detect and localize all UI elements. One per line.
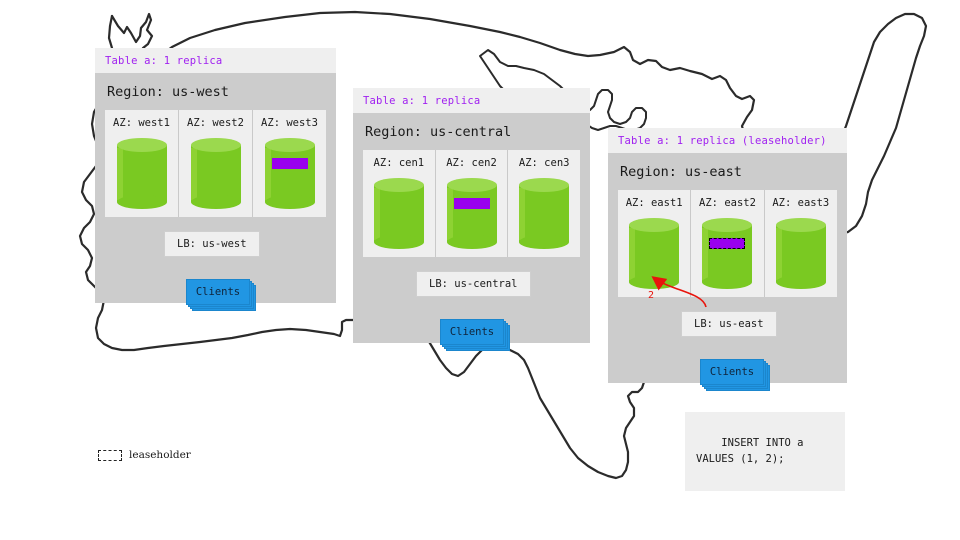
cylinder-body: [265, 145, 315, 202]
sql-text: INSERT INTO a VALUES (1, 2);: [696, 437, 803, 465]
az-label: AZ: east1: [622, 197, 686, 209]
clients-stack-us-east[interactable]: Clients: [700, 359, 764, 385]
cylinder-bottom: [702, 275, 752, 289]
cylinder-body: [117, 145, 167, 202]
cylinder-highlight: [117, 148, 123, 200]
load-balancer-us-west[interactable]: LB: us-west: [164, 231, 260, 257]
replica-cylinder-cen1[interactable]: [374, 178, 424, 248]
sql-statement-box: INSERT INTO a VALUES (1, 2);: [685, 412, 845, 491]
replica-cylinder-west2[interactable]: [191, 138, 241, 208]
az-label: AZ: cen1: [367, 157, 431, 169]
az-label: AZ: cen2: [440, 157, 504, 169]
region-header-us-east: Table a: 1 replica (leaseholder): [608, 128, 847, 153]
az-label: AZ: west1: [109, 117, 174, 129]
cylinder-bottom: [447, 235, 497, 249]
clients-stack-us-west[interactable]: Clients: [186, 279, 250, 305]
clients-stack-us-central[interactable]: Clients: [440, 319, 504, 345]
az-cell-cen2[interactable]: AZ: cen2: [435, 150, 508, 257]
cylinder-highlight: [447, 188, 453, 240]
cylinder-top: [374, 178, 424, 192]
cylinder-top: [629, 218, 679, 232]
cylinder-bottom: [374, 235, 424, 249]
az-label: AZ: east2: [695, 197, 759, 209]
az-cell-east3[interactable]: AZ: east3: [764, 190, 837, 297]
region-body-us-west: Region: us-west AZ: west1 AZ: west2: [95, 73, 336, 303]
arrow-step-number: 2: [648, 290, 654, 301]
region-panel-us-east: Table a: 1 replica (leaseholder) Region:…: [608, 128, 847, 383]
az-label: AZ: west2: [183, 117, 248, 129]
region-header-us-central: Table a: 1 replica: [353, 88, 590, 113]
replica-cylinder-east3[interactable]: [776, 218, 826, 288]
clients-label: Clients: [196, 286, 240, 298]
cylinder-bottom: [776, 275, 826, 289]
cylinder-highlight: [519, 188, 525, 240]
cylinder-top: [191, 138, 241, 152]
cylinder-body: [374, 185, 424, 242]
replica-cylinder-west1[interactable]: [117, 138, 167, 208]
cylinder-highlight: [374, 188, 380, 240]
cylinder-highlight: [702, 228, 708, 280]
replica-cylinder-east2[interactable]: [702, 218, 752, 288]
cylinder-body: [519, 185, 569, 242]
az-row-us-east: AZ: east1 AZ: east2: [618, 190, 837, 297]
cylinder-top: [776, 218, 826, 232]
az-cell-east2[interactable]: AZ: east2: [690, 190, 763, 297]
replica-cylinder-east1[interactable]: [629, 218, 679, 288]
lb-label: LB: us-east: [694, 318, 764, 330]
replica-note: Table a: 1 replica (leaseholder): [618, 135, 837, 147]
az-row-us-central: AZ: cen1 AZ: cen2: [363, 150, 580, 257]
cylinder-body: [776, 225, 826, 282]
replica-data-bar: [454, 198, 490, 209]
region-body-us-east: Region: us-east AZ: east1 AZ: east2: [608, 153, 847, 383]
cylinder-bottom: [519, 235, 569, 249]
cylinder-top: [117, 138, 167, 152]
replica-cylinder-west3[interactable]: [265, 138, 315, 208]
clients-label: Clients: [710, 366, 754, 378]
load-balancer-us-central[interactable]: LB: us-central: [416, 271, 531, 297]
dashed-rect-icon: [98, 450, 122, 461]
clients-button[interactable]: Clients: [186, 279, 250, 305]
cylinder-bottom: [629, 275, 679, 289]
az-cell-east1[interactable]: AZ: east1: [618, 190, 690, 297]
cylinder-body: [447, 185, 497, 242]
clients-button[interactable]: Clients: [700, 359, 764, 385]
lb-label: LB: us-west: [177, 238, 247, 250]
clients-label: Clients: [450, 326, 494, 338]
replica-cylinder-cen2[interactable]: [447, 178, 497, 248]
cylinder-top: [447, 178, 497, 192]
cylinder-highlight: [191, 148, 197, 200]
cylinder-top: [265, 138, 315, 152]
cylinder-bottom: [117, 195, 167, 209]
cylinder-highlight: [629, 228, 635, 280]
replica-data-bar: [272, 158, 308, 169]
cylinder-highlight: [265, 148, 271, 200]
legend-label: leaseholder: [129, 449, 191, 461]
az-row-us-west: AZ: west1 AZ: west2: [105, 110, 326, 217]
leaseholder-data-bar: [709, 238, 745, 249]
replica-cylinder-cen3[interactable]: [519, 178, 569, 248]
region-title: Region: us-central: [365, 124, 580, 140]
az-cell-cen1[interactable]: AZ: cen1: [363, 150, 435, 257]
region-header-us-west: Table a: 1 replica: [95, 48, 336, 73]
replica-note: Table a: 1 replica: [363, 95, 580, 107]
az-label: AZ: west3: [257, 117, 322, 129]
legend: leaseholder: [98, 449, 191, 461]
az-cell-west1[interactable]: AZ: west1: [105, 110, 178, 217]
lb-label: LB: us-central: [429, 278, 518, 290]
diagram-canvas: Table a: 1 replica Region: us-west AZ: w…: [0, 0, 960, 540]
cylinder-body: [191, 145, 241, 202]
az-label: AZ: east3: [769, 197, 833, 209]
region-title: Region: us-east: [620, 164, 837, 180]
replica-note: Table a: 1 replica: [105, 55, 326, 67]
az-label: AZ: cen3: [512, 157, 576, 169]
region-title: Region: us-west: [107, 84, 326, 100]
cylinder-bottom: [191, 195, 241, 209]
clients-button[interactable]: Clients: [440, 319, 504, 345]
az-cell-west3[interactable]: AZ: west3: [252, 110, 326, 217]
cylinder-bottom: [265, 195, 315, 209]
cylinder-body: [629, 225, 679, 282]
region-panel-us-central: Table a: 1 replica Region: us-central AZ…: [353, 88, 590, 343]
cylinder-body: [702, 225, 752, 282]
cylinder-top: [519, 178, 569, 192]
az-cell-west2[interactable]: AZ: west2: [178, 110, 252, 217]
az-cell-cen3[interactable]: AZ: cen3: [507, 150, 580, 257]
cylinder-highlight: [776, 228, 782, 280]
load-balancer-us-east[interactable]: LB: us-east: [681, 311, 777, 337]
region-panel-us-west: Table a: 1 replica Region: us-west AZ: w…: [95, 48, 336, 303]
region-body-us-central: Region: us-central AZ: cen1 AZ: cen2: [353, 113, 590, 343]
